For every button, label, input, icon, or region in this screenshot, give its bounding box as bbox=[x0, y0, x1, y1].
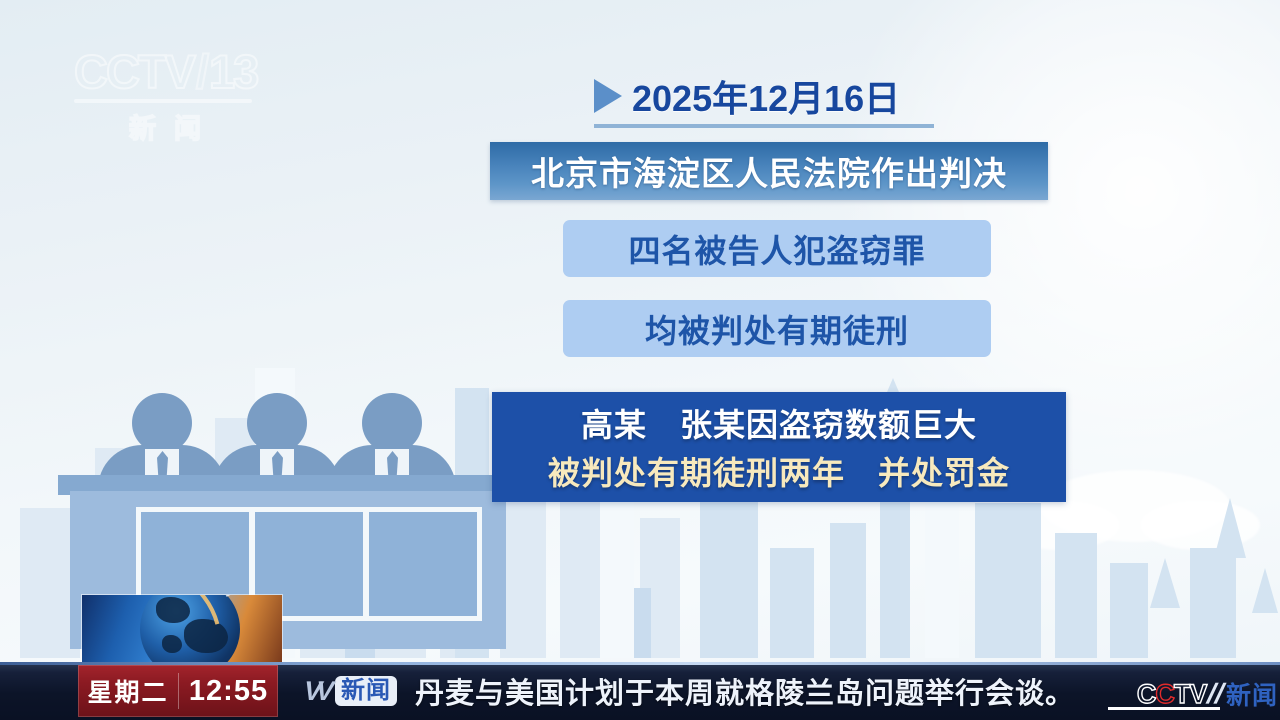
broadcast-screen: CCTV/13 新闻 2025年12月16日 北京市海淀区人民法院作出判决 四名… bbox=[0, 0, 1280, 720]
play-triangle-icon bbox=[594, 79, 622, 113]
corner-cctv-tv: TV bbox=[1174, 679, 1207, 709]
ticker-headline: 丹麦与美国计划于本周就格陵兰岛问题举行会谈。 bbox=[415, 670, 1075, 712]
headline-bar-primary: 北京市海淀区人民法院作出判决 bbox=[490, 142, 1048, 200]
globe-graphic bbox=[82, 595, 282, 663]
badge-chevron-icon: VV bbox=[300, 676, 332, 707]
corner-cctv-c2-red: C bbox=[1155, 679, 1174, 709]
headline-bar-secondary-1: 四名被告人犯盗窃罪 bbox=[563, 220, 991, 277]
summary-line-2: 被判处有期徒刑两年 并处罚金 bbox=[548, 448, 1010, 494]
date-row: 2025年12月16日 bbox=[594, 70, 934, 128]
corner-slash-icon: // bbox=[1204, 678, 1229, 710]
clock-box: 星期二 12:55 bbox=[78, 665, 278, 717]
weekday-label: 星期二 bbox=[78, 673, 178, 709]
headline-summary-box: 高某 张某因盗窃数额巨大 被判处有期徒刑两年 并处罚金 bbox=[492, 392, 1066, 502]
badge-label: 新闻 bbox=[335, 676, 397, 706]
news-badge: VV 新闻 bbox=[304, 676, 397, 707]
clock-time: 12:55 bbox=[179, 675, 278, 708]
summary-line-1: 高某 张某因盗窃数额巨大 bbox=[581, 400, 977, 446]
corner-cctv-mark: CCTV bbox=[1137, 679, 1207, 710]
corner-logo-underline bbox=[1108, 707, 1220, 710]
headline-block: 2025年12月16日 北京市海淀区人民法院作出判决 四名被告人犯盗窃罪 均被判… bbox=[0, 0, 1280, 560]
corner-cctv-c1: C bbox=[1137, 679, 1156, 709]
corner-channel-label: 新闻 bbox=[1226, 676, 1278, 712]
corner-channel-logo: CCTV // 新闻 bbox=[1137, 674, 1280, 714]
bottom-ticker-bar: 星期二 12:55 VV 新闻 丹麦与美国计划于本周就格陵兰岛问题举行会谈。 C… bbox=[0, 662, 1280, 720]
headline-bar-secondary-2: 均被判处有期徒刑 bbox=[563, 300, 991, 357]
headline-date: 2025年12月16日 bbox=[632, 70, 900, 122]
